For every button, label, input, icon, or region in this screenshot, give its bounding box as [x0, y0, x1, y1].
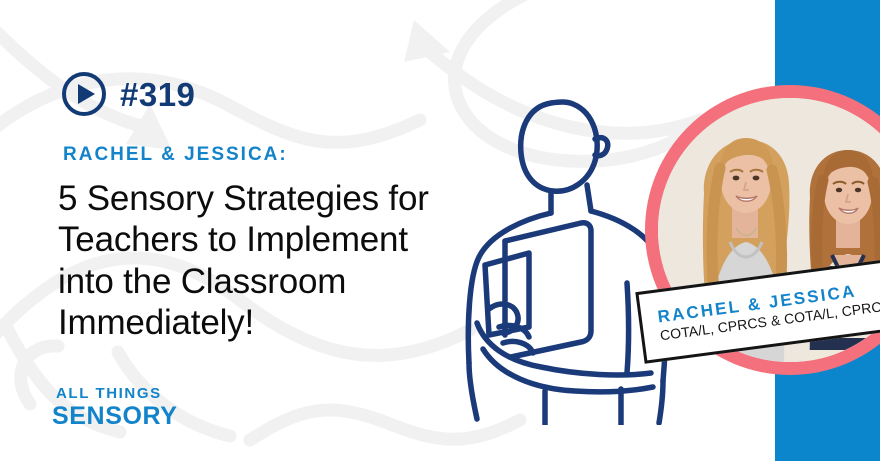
figure-neck-right — [587, 185, 591, 211]
episode-header: #319 — [62, 72, 195, 116]
brand-logo-line-1: ALL THINGS — [56, 386, 178, 401]
guest-eyebrow: RACHEL & JESSICA: — [63, 145, 288, 164]
play-circle-icon[interactable] — [62, 72, 106, 116]
figure-head — [521, 102, 597, 191]
figure-side-right — [659, 381, 663, 423]
figure-book-large — [505, 223, 591, 357]
figure-side-left — [469, 363, 477, 419]
podcast-episode-graphic: #319 RACHEL & JESSICA: 5 Sensory Strateg… — [0, 0, 880, 461]
brand-logo-line-2: SENSORY — [52, 404, 178, 429]
brand-logo[interactable]: ALL THINGS SENSORY — [52, 386, 178, 429]
episode-number: #319 — [120, 78, 195, 111]
episode-title-line-2: Teachers to Implement — [58, 219, 488, 260]
episode-title-line-1: 5 Sensory Strategies for — [58, 178, 488, 219]
figure-inner-arm-right — [627, 283, 629, 373]
episode-title: 5 Sensory Strategies for Teachers to Imp… — [58, 178, 488, 343]
arrowhead-up-center — [404, 20, 450, 62]
episode-title-line-4: Immediately! — [58, 302, 488, 343]
play-triangle-icon — [78, 84, 95, 104]
episode-title-line-3: into the Classroom — [58, 261, 488, 302]
